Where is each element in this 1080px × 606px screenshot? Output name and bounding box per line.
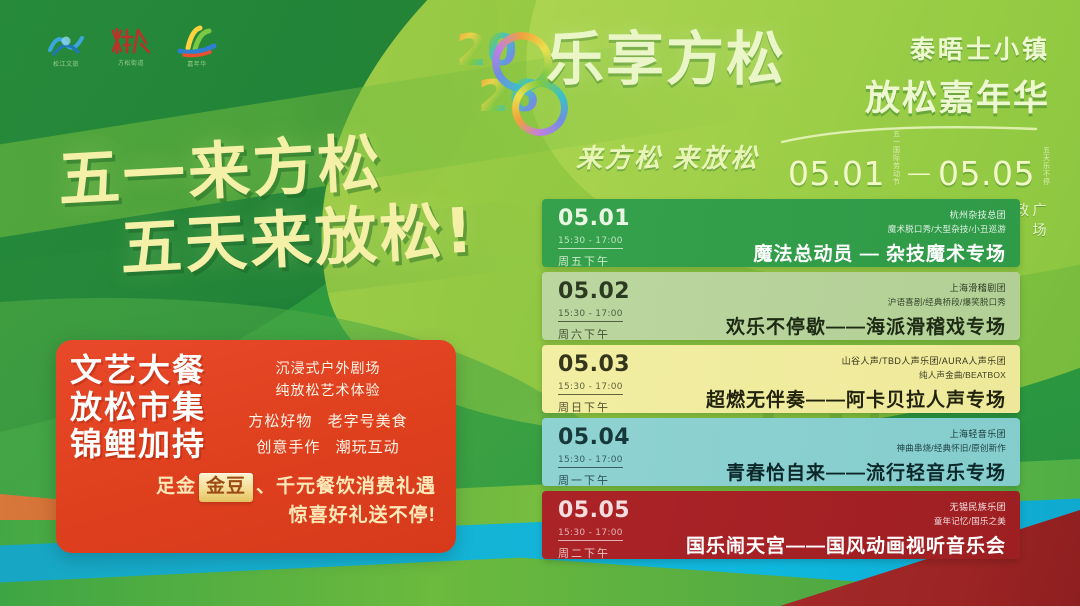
sponsor-logo-row: 松江文旅 方松街道 嘉年华 [46,24,218,68]
abstract-ribbon-icon [176,24,218,58]
schedule-date: 05.04 [558,427,660,449]
schedule-list: 05.01 15:30 - 17:00 周五下午 杭州杂技总团 魔术脱口秀/大型… [542,199,1020,564]
promo-big-line-1: 文艺大餐 [70,352,206,389]
promo-gift-prefix: 足金 [156,476,196,497]
promo-market-item-1: 方松好物 [248,413,312,430]
schedule-title: 欢乐不停歇——海派滑稽戏专场 [660,312,1006,339]
schedule-date: 05.03 [558,354,660,376]
promo-market-item-3: 创意手作 [256,439,320,456]
schedule-card[interactable]: 05.03 15:30 - 17:00 周日下午 山谷人声/TBD人声乐团/AU… [542,345,1020,413]
schedule-troupe: 无锡民族乐团 [660,500,1006,513]
schedule-tags: 童年记忆/国乐之美 [660,515,1006,527]
schedule-info-block: 山谷人声/TBD人声乐团/AURA人声乐团 纯人声金曲/BEATBOX 超燃无伴… [660,345,1020,413]
date-end: 05.05 [938,154,1035,193]
promo-top-row: 文艺大餐 放松市集 锦鲤加持 沉浸式户外剧场 纯放松艺术体验 方松好物 老字号美… [56,340,456,467]
schedule-date-block: 05.01 15:30 - 17:00 周五下午 [542,199,660,267]
schedule-info-block: 无锡民族乐团 童年记忆/国乐之美 国乐闹天宫——国风动画视听音乐会 [660,491,1020,559]
promo-detail-list: 沉浸式户外剧场 纯放松艺术体验 方松好物 老字号美食 创意手作 潮玩互动 [216,352,440,463]
schedule-date: 05.05 [558,500,660,522]
promo-big-lines: 文艺大餐 放松市集 锦鲤加持 [70,352,206,463]
schedule-date: 05.02 [558,281,660,303]
date-range: 05.01 五一 国际劳动节 — 05.05 五天 乐不停 [824,131,1050,193]
promo-gift-suffix: 、千元餐饮消费礼遇 [256,476,436,497]
sub-slogan: 来方松 来放松 [576,138,760,175]
mountain-water-icon [46,24,86,58]
promo-gift-line-1: 足金金豆、千元餐饮消费礼遇 [70,473,436,502]
gold-bean-badge: 金豆 [199,473,253,502]
schedule-info-block: 杭州杂技总团 魔术脱口秀/大型杂技/小丑巡游 魔法总动员 — 杂技魔术专场 [660,199,1020,267]
promo-gift-text: 足金金豆、千元餐饮消费礼遇 惊喜好礼送不停! [56,467,456,530]
promo-big-line-2: 放松市集 [70,389,206,426]
page-title: 乐享方松 [546,30,786,88]
schedule-card[interactable]: 05.05 15:30 - 17:00 周二下午 无锡民族乐团 童年记忆/国乐之… [542,491,1020,559]
schedule-day: 周六下午 [558,326,660,340]
promo-gift-line-2: 惊喜好礼送不停! [70,502,436,531]
schedule-title: 魔法总动员 — 杂技魔术专场 [660,239,1006,266]
promo-panel: 文艺大餐 放松市集 锦鲤加持 沉浸式户外剧场 纯放松艺术体验 方松好物 老字号美… [56,340,456,553]
schedule-day: 周日下午 [558,399,660,413]
schedule-title: 国乐闹天宫——国风动画视听音乐会 [660,531,1006,558]
schedule-time: 15:30 - 17:00 [558,528,623,541]
schedule-info-block: 上海轻音乐团 神曲串烧/经典怀旧/原创新作 青春恰自来——流行轻音乐专场 [660,418,1020,486]
schedule-troupe: 上海轻音乐团 [660,427,1006,440]
schedule-tags: 魔术脱口秀/大型杂技/小丑巡游 [660,223,1006,235]
schedule-info-block: 上海滑稽剧团 沪语喜剧/经典桥段/爆笑脱口秀 欢乐不停歇——海派滑稽戏专场 [660,272,1020,340]
schedule-title: 青春恰自来——流行轻音乐专场 [660,458,1006,485]
schedule-card[interactable]: 05.04 15:30 - 17:00 周一下午 上海轻音乐团 神曲串烧/经典怀… [542,418,1020,486]
schedule-time: 15:30 - 17:00 [558,309,623,322]
festival-poster: 松江文旅 方松街道 嘉年华 20 26 乐 [0,0,1080,606]
promo-detail-2: 纯放松艺术体验 [216,380,440,402]
schedule-time: 15:30 - 17:00 [558,455,623,468]
schedule-day: 周五下午 [558,253,660,267]
promo-big-line-3: 锦鲤加持 [70,426,206,463]
event-name-line: 放松嘉年华 [824,70,1050,121]
schedule-tags: 纯人声金曲/BEATBOX [660,369,1006,381]
schedule-title: 超燃无伴奏——阿卡贝拉人声专场 [660,385,1006,412]
venue-name-line: 泰晤士小镇 [824,30,1050,66]
promo-market-item-2: 老字号美食 [328,413,408,430]
schedule-date-block: 05.05 15:30 - 17:00 周二下午 [542,491,660,559]
festival-mark-logo: 嘉年华 [176,24,218,68]
schedule-date-block: 05.04 15:30 - 17:00 周一下午 [542,418,660,486]
date-end-note: 五天 乐不停 [1043,147,1050,193]
fangsong-mark-icon [108,25,154,57]
main-headline: 五一来方松 五天来放松! [58,148,558,280]
schedule-date: 05.01 [558,208,660,230]
date-dash: — [908,160,930,193]
schedule-day: 周一下午 [558,472,660,486]
logo-caption: 方松街道 [118,58,144,67]
promo-market-row-2: 创意手作 潮玩互动 [216,436,440,459]
schedule-tags: 沪语喜剧/经典桥段/爆笑脱口秀 [660,296,1006,308]
logo-caption: 嘉年华 [187,59,207,68]
fangsong-logo: 方松街道 [108,25,154,67]
schedule-card[interactable]: 05.02 15:30 - 17:00 周六下午 上海滑稽剧团 沪语喜剧/经典桥… [542,272,1020,340]
schedule-tags: 神曲串烧/经典怀旧/原创新作 [660,442,1006,454]
promo-market-row-1: 方松好物 老字号美食 [216,410,440,433]
date-start: 05.01 [788,154,885,193]
songjiang-culture-logo: 松江文旅 [46,24,86,68]
schedule-troupe: 杭州杂技总团 [660,208,1006,221]
promo-market-item-4: 潮玩互动 [336,439,400,456]
schedule-time: 15:30 - 17:00 [558,236,623,249]
schedule-time: 15:30 - 17:00 [558,382,623,395]
schedule-date-block: 05.02 15:30 - 17:00 周六下午 [542,272,660,340]
year-2026-graphic: 20 26 [456,26,552,136]
date-start-note: 五一 国际劳动节 [893,131,900,193]
schedule-day: 周二下午 [558,545,660,559]
schedule-troupe: 山谷人声/TBD人声乐团/AURA人声乐团 [660,354,1006,367]
schedule-troupe: 上海滑稽剧团 [660,281,1006,294]
promo-detail-1: 沉浸式户外剧场 [216,358,440,380]
logo-caption: 松江文旅 [53,59,79,68]
schedule-card[interactable]: 05.01 15:30 - 17:00 周五下午 杭州杂技总团 魔术脱口秀/大型… [542,199,1020,267]
schedule-date-block: 05.03 15:30 - 17:00 周日下午 [542,345,660,413]
